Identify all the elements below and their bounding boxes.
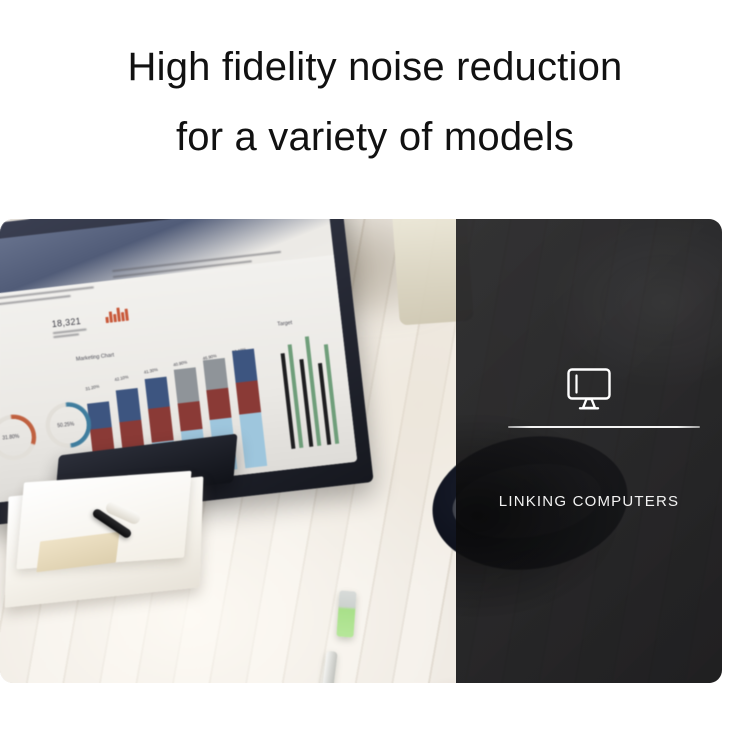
bar-label: 40.90% — [173, 360, 188, 368]
headline-line-2: for a variety of models — [0, 102, 750, 172]
monitor-icon-wrapper — [456, 367, 722, 411]
green-highlighter — [336, 590, 356, 637]
page-title: High fidelity noise reduction for a vari… — [0, 32, 750, 172]
bar-label: 42.10% — [114, 374, 129, 382]
overlay-content: LINKING COMPUTERS — [456, 219, 722, 683]
overlay-divider — [508, 426, 700, 428]
headline-line-1: High fidelity noise reduction — [0, 32, 750, 102]
bar-label: 41.30% — [143, 367, 158, 375]
dashboard-target-chart — [276, 326, 355, 449]
monitor-icon — [565, 367, 613, 411]
overlay-label: LINKING COMPUTERS — [456, 493, 722, 510]
bar-label: 31.20% — [85, 384, 100, 392]
stacked-bar — [232, 349, 267, 469]
